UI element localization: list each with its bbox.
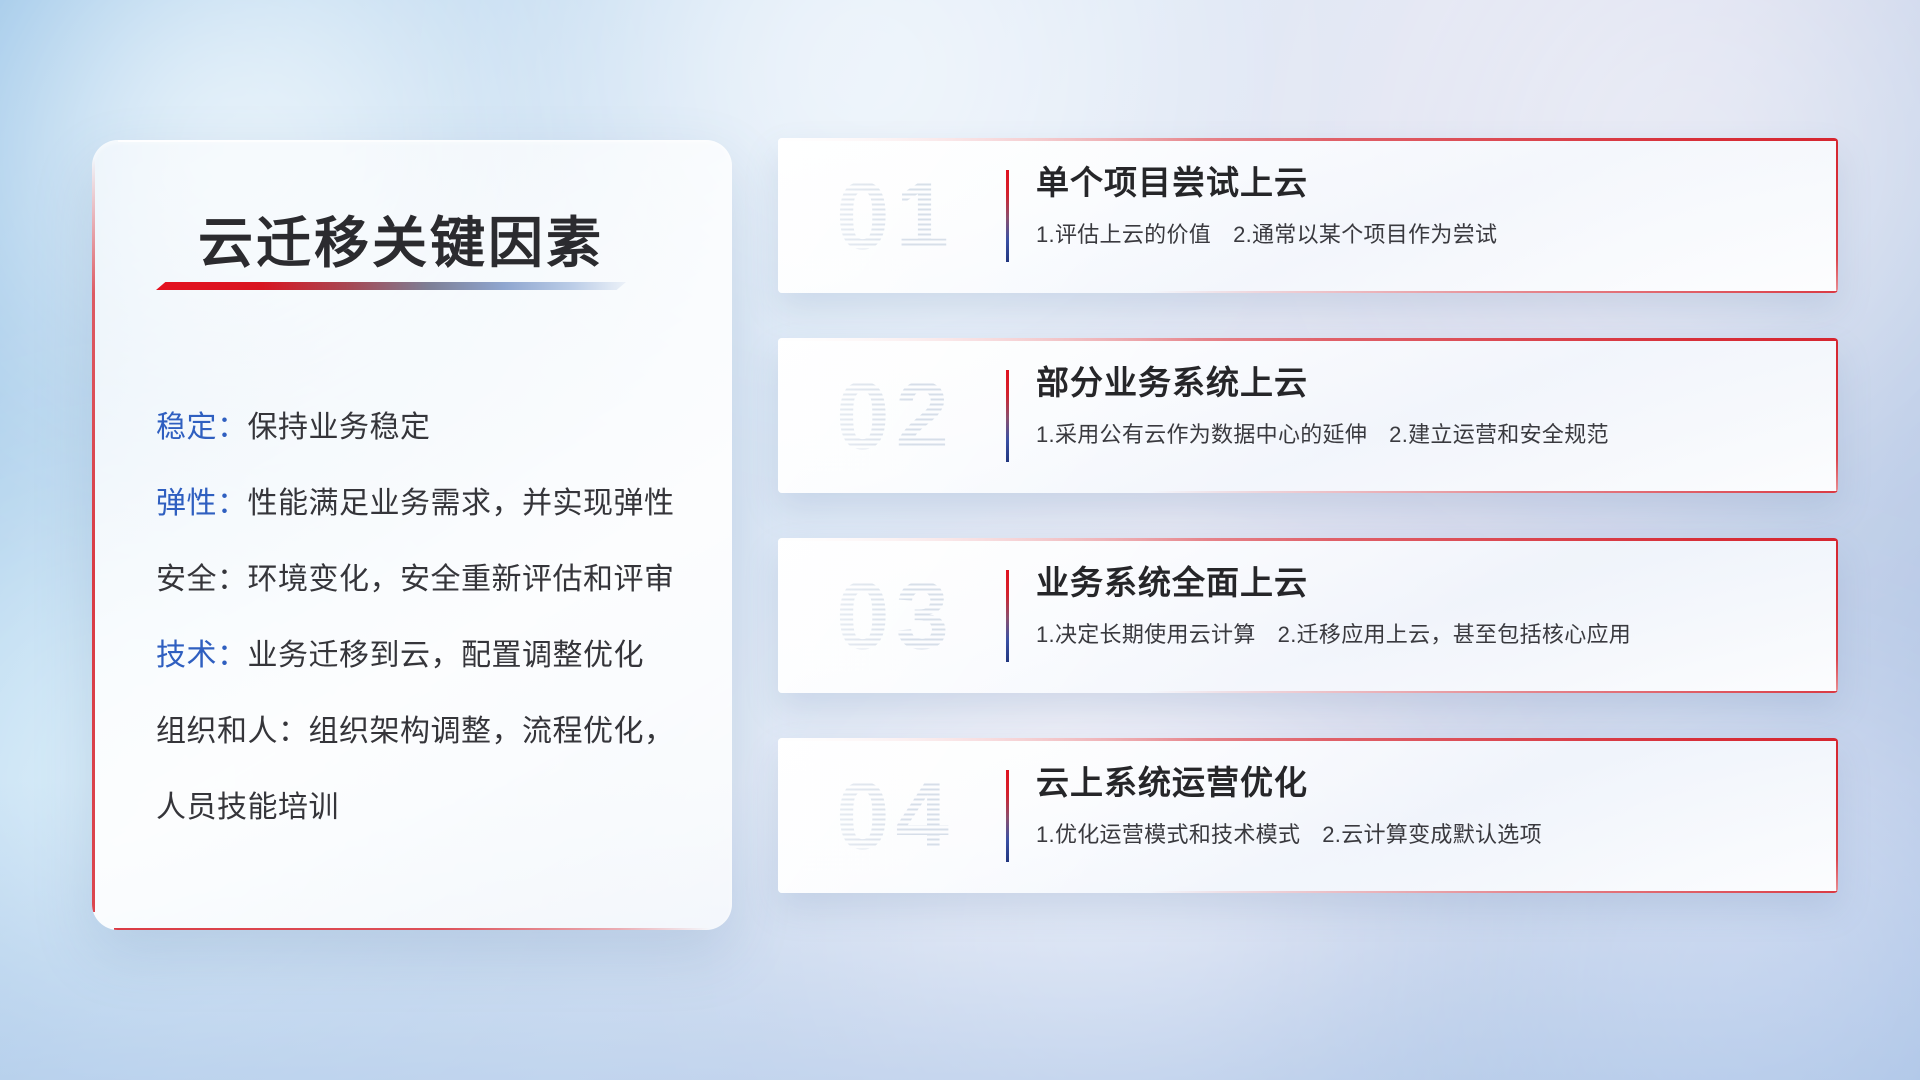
stage-card[interactable]: 03业务系统全面上云1.决定长期使用云计算2.迁移应用上云，甚至包括核心应用: [778, 538, 1838, 693]
card-point-1: 1.评估上云的价值: [1036, 222, 1211, 247]
card-right-accent: [1836, 538, 1839, 693]
card-right-accent: [1836, 338, 1839, 493]
card-point-2: 2.云计算变成默认选项: [1322, 822, 1542, 847]
key-factor-item: 弹性：性能满足业务需求，并实现弹性: [156, 466, 696, 542]
card-accent-bar: [1006, 370, 1009, 462]
key-factor-label: 安全：: [156, 563, 248, 596]
key-factor-text: 环境变化，安全重新评估和评审: [248, 563, 675, 596]
key-factor-label: 技术：: [156, 639, 248, 672]
card-number: 04: [803, 758, 988, 873]
card-subtitle: 1.决定长期使用云计算2.迁移应用上云，甚至包括核心应用: [1036, 620, 1802, 650]
key-factor-item: 安全：环境变化，安全重新评估和评审: [156, 542, 696, 618]
card-point-1: 1.优化运营模式和技术模式: [1036, 822, 1300, 847]
cloud-migration-stage-cards: 01单个项目尝试上云1.评估上云的价值2.通常以某个项目作为尝试02部分业务系统…: [778, 138, 1838, 938]
card-top-accent: [778, 538, 1838, 541]
card-bottom-accent: [1149, 891, 1838, 894]
panel-top-highlight: [118, 140, 706, 142]
card-bottom-accent: [1149, 691, 1838, 694]
card-right-accent: [1836, 738, 1839, 893]
card-point-1: 1.决定长期使用云计算: [1036, 622, 1256, 647]
key-factor-label: 稳定：: [156, 411, 248, 444]
card-point-2: 2.迁移应用上云，甚至包括核心应用: [1278, 622, 1631, 647]
stage-card[interactable]: 01单个项目尝试上云1.评估上云的价值2.通常以某个项目作为尝试: [778, 138, 1838, 293]
card-top-accent: [778, 738, 1838, 741]
panel-left-accent: [92, 158, 95, 912]
key-factor-text: 组织架构调整，流程优化，: [309, 715, 675, 748]
card-text-block: 业务系统全面上云1.决定长期使用云计算2.迁移应用上云，甚至包括核心应用: [1036, 560, 1802, 650]
card-title: 业务系统全面上云: [1036, 560, 1802, 606]
card-accent-bar: [1006, 770, 1009, 862]
card-title: 云上系统运营优化: [1036, 760, 1802, 806]
card-subtitle: 1.评估上云的价值2.通常以某个项目作为尝试: [1036, 220, 1802, 250]
card-title: 单个项目尝试上云: [1036, 160, 1802, 206]
card-number: 02: [803, 358, 988, 473]
card-point-2: 2.建立运营和安全规范: [1389, 422, 1609, 447]
card-number: 01: [803, 158, 988, 273]
key-factor-label: 组织和人：: [156, 715, 309, 748]
card-text-block: 部分业务系统上云1.采用公有云作为数据中心的延伸2.建立运营和安全规范: [1036, 360, 1802, 450]
key-factor-item: 稳定：保持业务稳定: [156, 390, 696, 466]
title-underline: [156, 282, 626, 290]
card-top-accent: [778, 138, 1838, 141]
panel-bottom-accent: [114, 928, 710, 931]
page-title: 云迁移关键因素: [198, 198, 604, 278]
card-bottom-accent: [1149, 291, 1838, 294]
stage-card[interactable]: 04云上系统运营优化1.优化运营模式和技术模式2.云计算变成默认选项: [778, 738, 1838, 893]
key-factor-text: 业务迁移到云，配置调整优化: [248, 639, 645, 672]
card-number: 03: [803, 558, 988, 673]
card-right-accent: [1836, 138, 1839, 293]
card-accent-bar: [1006, 570, 1009, 662]
slide-stage: 云迁移关键因素 稳定：保持业务稳定弹性：性能满足业务需求，并实现弹性安全：环境变…: [0, 0, 1920, 1080]
card-text-block: 单个项目尝试上云1.评估上云的价值2.通常以某个项目作为尝试: [1036, 160, 1802, 250]
key-factor-item: 组织和人：组织架构调整，流程优化，: [156, 694, 696, 770]
key-factor-text: 人员技能培训: [156, 791, 339, 824]
key-factor-label: 弹性：: [156, 487, 248, 520]
key-factor-item: 技术：业务迁移到云，配置调整优化: [156, 618, 696, 694]
stage-card[interactable]: 02部分业务系统上云1.采用公有云作为数据中心的延伸2.建立运营和安全规范: [778, 338, 1838, 493]
card-subtitle: 1.采用公有云作为数据中心的延伸2.建立运营和安全规范: [1036, 420, 1802, 450]
key-factor-text: 性能满足业务需求，并实现弹性: [248, 487, 675, 520]
card-point-2: 2.通常以某个项目作为尝试: [1233, 222, 1497, 247]
card-point-1: 1.采用公有云作为数据中心的延伸: [1036, 422, 1367, 447]
card-bottom-accent: [1149, 491, 1838, 494]
card-top-accent: [778, 338, 1838, 341]
key-factor-text: 保持业务稳定: [248, 411, 431, 444]
card-text-block: 云上系统运营优化1.优化运营模式和技术模式2.云计算变成默认选项: [1036, 760, 1802, 850]
key-factors-list: 稳定：保持业务稳定弹性：性能满足业务需求，并实现弹性安全：环境变化，安全重新评估…: [156, 390, 696, 846]
card-title: 部分业务系统上云: [1036, 360, 1802, 406]
card-subtitle: 1.优化运营模式和技术模式2.云计算变成默认选项: [1036, 820, 1802, 850]
key-factors-panel: 云迁移关键因素 稳定：保持业务稳定弹性：性能满足业务需求，并实现弹性安全：环境变…: [92, 140, 732, 930]
key-factor-item: 人员技能培训: [156, 770, 696, 846]
card-accent-bar: [1006, 170, 1009, 262]
